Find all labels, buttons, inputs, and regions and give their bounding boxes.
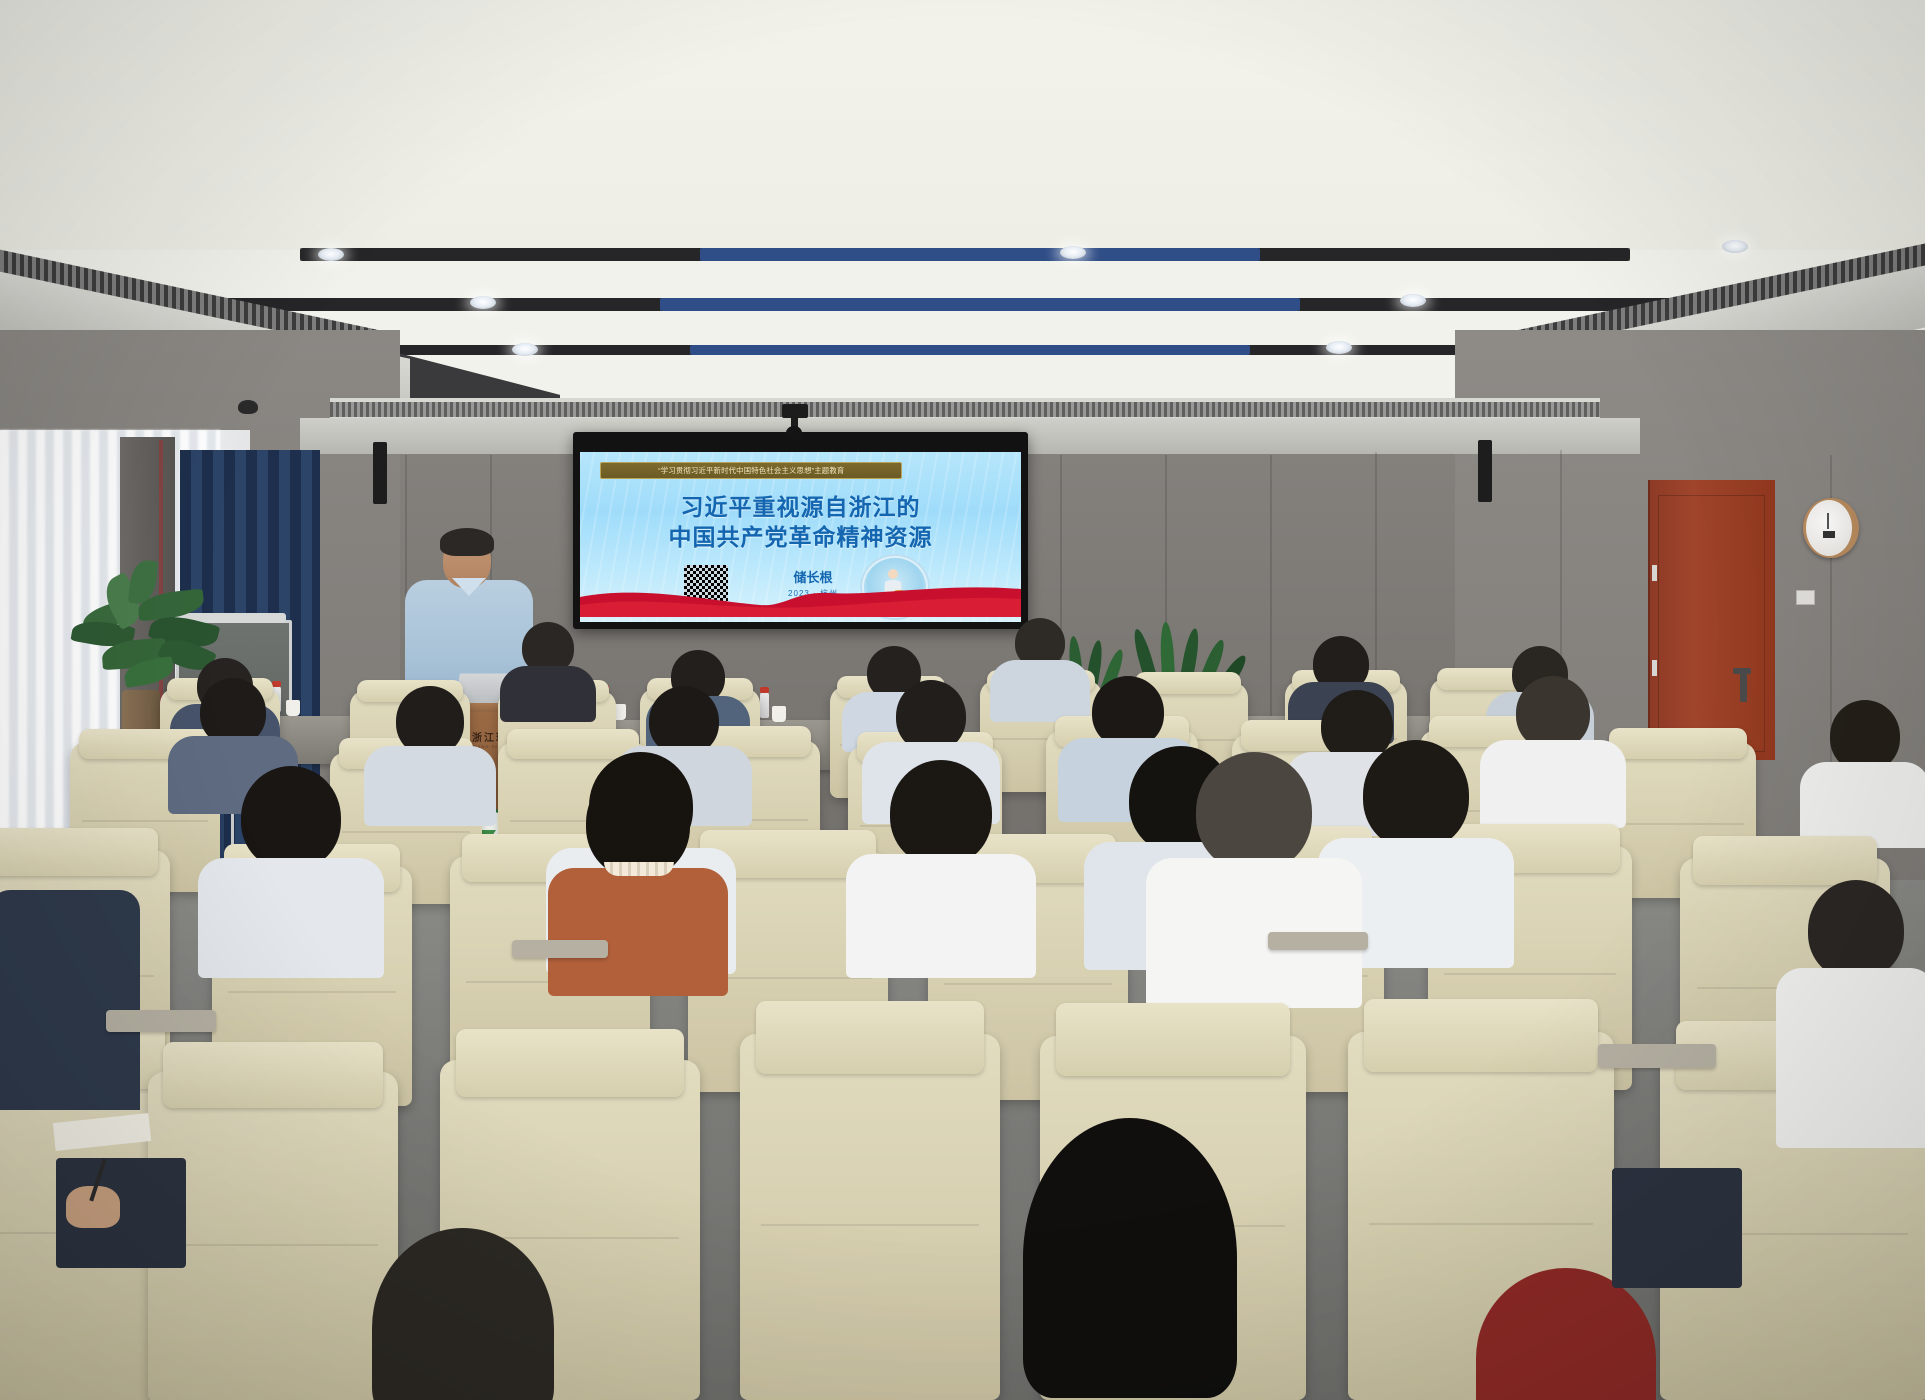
presentation-slide[interactable]: “学习贯彻习近平新时代中国特色社会主义思想”主题教育 习近平重视源自浙江的 中国… (580, 452, 1021, 622)
attendee-left-edge (0, 890, 140, 1110)
wall-speaker-left (373, 442, 387, 504)
water-bottle (760, 692, 769, 718)
paper-cup (772, 706, 786, 722)
ceiling-panel-upper (0, 0, 1925, 250)
air-vent-grille (330, 402, 1600, 417)
clock-date-window (1823, 531, 1835, 538)
chair-armrest (106, 1010, 216, 1032)
ceiling-downlight (1326, 341, 1352, 354)
ceiling-camera-icon (238, 400, 258, 414)
attendee (500, 622, 596, 702)
ceiling-downlight (1060, 246, 1086, 259)
light-switch[interactable] (1796, 590, 1815, 605)
conference-room-photo: “学习贯彻习近平新时代中国特色社会主义思想”主题教育 习近平重视源自浙江的 中国… (0, 0, 1925, 1400)
slide-banner-text: “学习贯彻习近平新时代中国特色社会主义思想”主题教育 (658, 465, 844, 475)
attendee (846, 760, 1036, 950)
ceiling-downlight (1400, 294, 1426, 307)
ceiling-downlight (470, 296, 496, 309)
slide-title-line-2: 中国共产党革命精神资源 (580, 518, 1021, 552)
chair-armrest (1268, 932, 1368, 950)
ceiling-downlight (1722, 240, 1748, 253)
attendee (1800, 700, 1925, 830)
chair (740, 1034, 1000, 1400)
door-hinge (1652, 660, 1657, 676)
door-panel (1658, 495, 1765, 752)
chair-armrest (1598, 1044, 1716, 1068)
slide-title-line-1: 习近平重视源自浙江的 (580, 488, 1021, 522)
presenter-hair (440, 528, 494, 556)
slide-red-ribbon (580, 571, 1021, 617)
clock-hand (1827, 513, 1829, 529)
door-handle-lever[interactable] (1733, 668, 1751, 674)
attendee (198, 766, 384, 946)
clock-face (1806, 500, 1852, 556)
ceiling-light-strip-blue (700, 248, 1260, 261)
door-hinge (1652, 565, 1657, 581)
laptop-bag-right (1612, 1168, 1742, 1288)
necklace (604, 862, 674, 876)
projector-camera-lens (786, 426, 802, 440)
ceiling-light-strip-blue (690, 345, 1250, 355)
attendee-foreground (348, 1228, 578, 1400)
wall-speaker-right (1478, 440, 1492, 502)
ceiling-downlight (318, 248, 344, 261)
door-handle[interactable] (1740, 672, 1747, 702)
slide-theme-banner: “学习贯彻习近平新时代中国特色社会主义思想”主题教育 (600, 462, 902, 479)
chair-armrest (512, 940, 608, 958)
ceiling-downlight (512, 343, 538, 356)
attendee-foreground-longhair (1000, 1118, 1260, 1400)
ceiling-light-strip-blue (660, 298, 1300, 311)
attendee-right-edge (1776, 880, 1925, 1140)
